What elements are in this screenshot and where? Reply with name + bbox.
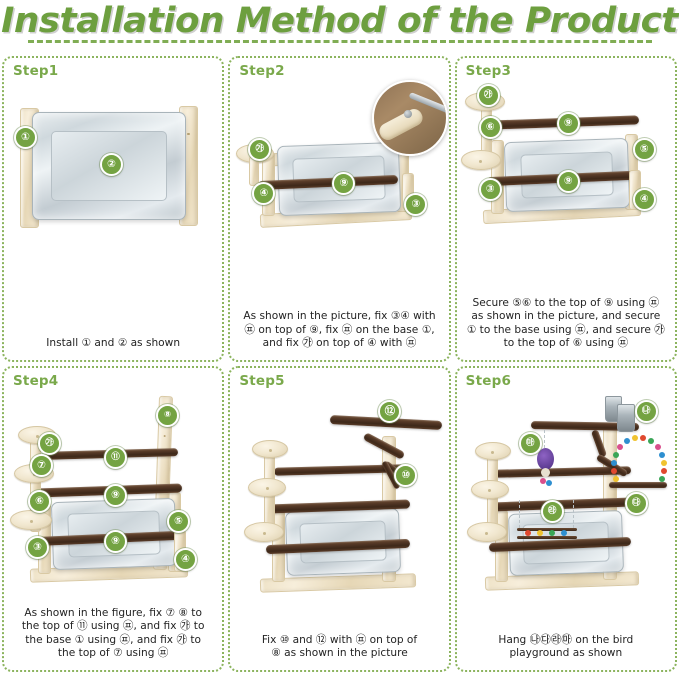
- step-caption-3: Secure ⑤⑥ to the top of ⑨ using ㉬ as sho…: [457, 297, 675, 360]
- feeder-cup-icon: [617, 404, 635, 432]
- step-illustration-1: ① ②: [4, 78, 222, 337]
- steps-grid: Step1 ① ② Install ① and ② as shown Step2: [2, 56, 677, 672]
- wood-platform-icon: [471, 480, 509, 499]
- step-caption-2: As shown in the picture, fix ③④ with ㉬ o…: [230, 310, 448, 360]
- caption-line: to the top of ⑥ using ㉬: [464, 337, 668, 351]
- wood-platform-icon: [252, 440, 288, 458]
- caption-line: ㉬ on top of ⑨, fix ㉬ on the base ①,: [237, 324, 441, 338]
- part-badge: ⑦: [30, 454, 53, 477]
- caption-line: the base ① using ㉬, and fix ㉮ to: [11, 634, 215, 648]
- step-panel-3: Step3 ㉮ ⑥ ⑨ ⑤ ③ ⑨ ④: [455, 56, 677, 362]
- part-badge: ③: [404, 193, 427, 216]
- part-badge: ③: [26, 536, 49, 559]
- caption-line: As shown in the picture, fix ③④ with: [237, 310, 441, 324]
- part-badge: ㉱: [541, 500, 564, 523]
- wood-platform-icon: [467, 522, 507, 542]
- part-badge: ㉰: [625, 492, 648, 515]
- step-illustration-6: ㉯ ㉲ ㉱ ㉰: [457, 388, 675, 634]
- part-badge: ④: [633, 188, 656, 211]
- caption-line: ① to the base using ㉬, and secure ㉮: [464, 324, 668, 338]
- step-caption-5: Fix ⑩ and ⑫ with ㉬ on top of ⑧ as shown …: [230, 634, 448, 670]
- page-title: Installation Method of the Product: [0, 0, 679, 43]
- part-badge: ⑤: [633, 138, 656, 161]
- swing-perch-icon: [609, 482, 667, 488]
- caption-line: the top of ⑪ using ㉬, and fix ㉮ to: [11, 620, 215, 634]
- step-illustration-3: ㉮ ⑥ ⑨ ⑤ ③ ⑨ ④: [457, 78, 675, 297]
- part-badge: ①: [14, 126, 37, 149]
- step-caption-1: Install ① and ② as shown: [4, 337, 222, 360]
- caption-line: Fix ⑩ and ⑫ with ㉬ on top of: [237, 634, 441, 648]
- wood-platform-icon: [10, 510, 52, 530]
- part-badge: ㉮: [38, 432, 61, 455]
- part-badge: ④: [174, 548, 197, 571]
- part-badge: ㉮: [477, 84, 500, 107]
- part-badge: ⑤: [167, 510, 190, 533]
- caption-line: the top of ⑦ using ㉬: [11, 647, 215, 661]
- part-badge: ㉲: [519, 432, 542, 455]
- wood-platform-icon: [475, 442, 511, 460]
- part-badge: ⑩: [394, 464, 417, 487]
- wood-platform-icon: [461, 150, 501, 170]
- step-panel-4: Step4 ⑧ ㉮ ⑦ ⑪ ⑥: [2, 366, 224, 672]
- caption-line: playground as shown: [464, 647, 668, 661]
- installation-manual-page: Installation Method of the Product Step1…: [0, 0, 679, 674]
- step-label-4: Step4: [13, 373, 58, 389]
- caption-line: ⑧ as shown in the picture: [237, 647, 441, 661]
- part-badge: ⑧: [156, 404, 179, 427]
- step-panel-2: Step2: [228, 56, 450, 362]
- caption-line: Install ① and ② as shown: [11, 337, 215, 351]
- wood-platform-icon: [248, 478, 286, 497]
- part-badge: ⑨: [104, 484, 127, 507]
- step-label-1: Step1: [13, 63, 58, 79]
- caption-line: Secure ⑤⑥ to the top of ⑨ using ㉬: [464, 297, 668, 311]
- step-label-2: Step2: [239, 63, 284, 79]
- step-caption-6: Hang ㉯㉰㉱㉲ on the bird playground as show…: [457, 634, 675, 670]
- part-badge: ⑪: [104, 446, 127, 469]
- step-label-5: Step5: [239, 373, 284, 389]
- step-caption-4: As shown in the figure, fix ⑦ ⑧ to the t…: [4, 607, 222, 670]
- step-panel-5: Step5 ⑫ ⑩: [228, 366, 450, 672]
- part-badge: ㉯: [635, 400, 658, 423]
- part-badge: ⑨: [104, 530, 127, 553]
- step-illustration-2: ㉮ ④ ⑨ ③: [230, 78, 448, 310]
- step-illustration-5: ⑫ ⑩: [230, 388, 448, 634]
- part-badge: ③: [479, 178, 502, 201]
- part-badge: ⑨: [557, 112, 580, 135]
- part-badge: ②: [100, 153, 123, 176]
- step-label-6: Step6: [466, 373, 511, 389]
- caption-line: as shown in the picture, and secure: [464, 310, 668, 324]
- beaded-swing-icon: [609, 434, 669, 486]
- page-header: Installation Method of the Product: [0, 0, 679, 52]
- part-badge: ⑥: [479, 116, 502, 139]
- caption-line: and fix ㉮ on top of ④ with ㉬: [237, 337, 441, 351]
- screwdriver-detail-icon: [372, 80, 448, 156]
- part-badge: ⑥: [28, 490, 51, 513]
- caption-line: Hang ㉯㉰㉱㉲ on the bird: [464, 634, 668, 648]
- step-label-3: Step3: [466, 63, 511, 79]
- step-panel-1: Step1 ① ② Install ① and ② as shown: [2, 56, 224, 362]
- step-panel-6: Step6: [455, 366, 677, 672]
- part-badge: ⑨: [557, 170, 580, 193]
- step-illustration-4: ⑧ ㉮ ⑦ ⑪ ⑥ ⑨ ⑤ ③ ⑨ ④: [4, 388, 222, 607]
- caption-line: As shown in the figure, fix ⑦ ⑧ to: [11, 607, 215, 621]
- title-underline: [28, 40, 652, 43]
